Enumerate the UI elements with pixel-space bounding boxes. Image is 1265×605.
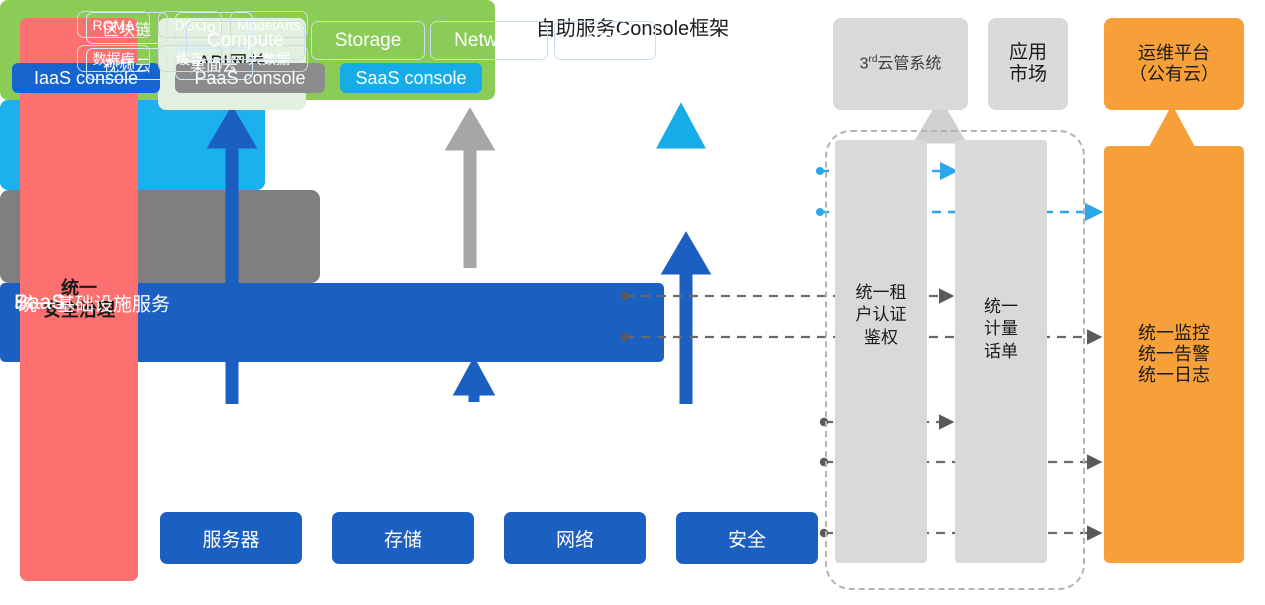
- resource-box-network[interactable]: 网络: [504, 512, 646, 564]
- infra-tag-network[interactable]: Network: [430, 21, 548, 60]
- auth-line-1: 统一租: [835, 282, 927, 304]
- auth-line-2: 户认证: [835, 304, 927, 326]
- saas-console-button[interactable]: SaaS console: [340, 63, 482, 93]
- infra-tag-cce[interactable]: CCE: [554, 21, 656, 60]
- app-market-box[interactable]: 应用 市场: [988, 18, 1068, 110]
- metering-line-1: 统一: [955, 296, 1047, 318]
- ops-panel-line-2: 统一告警: [1138, 344, 1210, 365]
- infrastructure-label: 统一基础设施服务: [18, 289, 170, 316]
- third-party-cloud-mgmt-box[interactable]: 3rd云管系统: [833, 18, 968, 110]
- metering-line-2: 计量: [955, 318, 1047, 340]
- app-market-line-1: 应用: [1009, 42, 1047, 64]
- ops-platform-line-1: 运维平台: [1129, 43, 1219, 64]
- shared-column-auth-label: 统一租 户认证 鉴权: [835, 282, 927, 349]
- third-party-label: 3rd云管系统: [860, 54, 942, 74]
- infra-tag-compute[interactable]: Compute: [186, 21, 305, 60]
- metering-line-3: 话单: [955, 341, 1047, 363]
- ops-platform-box[interactable]: 运维平台 （公有云）: [1104, 18, 1244, 110]
- diagram-canvas: 统一租 户认证 鉴权 统一 计量 话单 统一 安全治理 API网关 自助服务Co…: [0, 0, 1265, 605]
- ops-panel-line-3: 统一日志: [1138, 365, 1210, 386]
- app-market-line-2: 市场: [1009, 64, 1047, 86]
- shared-column-auth: [835, 140, 927, 563]
- dashed-blue-dots: [816, 167, 824, 216]
- paas-tag-roma[interactable]: ROMA: [77, 11, 150, 38]
- shared-column-metering-label: 统一 计量 话单: [955, 296, 1047, 363]
- paas-tag-database[interactable]: 数据库: [77, 45, 150, 72]
- ops-platform-line-2: （公有云）: [1129, 64, 1219, 85]
- auth-line-3: 鉴权: [835, 327, 927, 349]
- resource-box-storage[interactable]: 存储: [332, 512, 474, 564]
- ops-panel-line-1: 统一监控: [1138, 323, 1210, 344]
- resource-box-security[interactable]: 安全: [676, 512, 818, 564]
- third-party-text: 云管系统: [877, 55, 941, 72]
- infra-tag-storage[interactable]: Storage: [311, 21, 425, 60]
- unified-ops-panel[interactable]: 统一监控 统一告警 统一日志: [1104, 146, 1244, 563]
- resource-box-server[interactable]: 服务器: [160, 512, 302, 564]
